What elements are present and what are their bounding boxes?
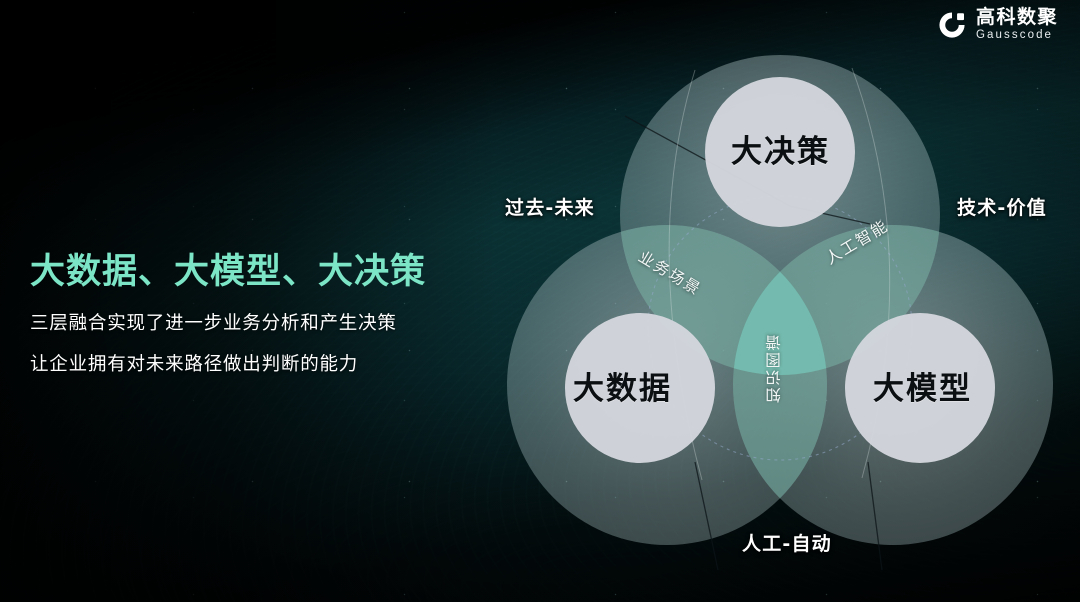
venn-axis-label-manual-auto: 人工-自动 bbox=[742, 529, 832, 556]
slide-canvas: 高科数聚 Gausscode 大数据、大模型、大决策 三层融合实现了进一步业务分… bbox=[0, 0, 1080, 602]
subtitle-line-2: 让企业拥有对未来路径做出判断的能力 bbox=[30, 355, 500, 375]
subtitle-line-1: 三层融合实现了进一步业务分析和产生决策 bbox=[30, 314, 500, 334]
brand-name-cn: 高科数聚 bbox=[976, 8, 1058, 27]
venn-core-label-model: 大模型 bbox=[873, 363, 972, 408]
gausscode-circle-mark-icon bbox=[937, 10, 967, 40]
page-title: 大数据、大模型、大决策 bbox=[30, 252, 500, 292]
copy-block: 大数据、大模型、大决策 三层融合实现了进一步业务分析和产生决策 让企业拥有对未来… bbox=[30, 252, 500, 395]
venn-axis-label-tech-value: 技术-价值 bbox=[957, 193, 1047, 220]
venn-overlap-label-knowledge-graph: 知识图谱 bbox=[763, 333, 785, 403]
brand-name-en: Gausscode bbox=[976, 30, 1058, 42]
venn-diagram bbox=[490, 10, 1070, 600]
brand-logo-text: 高科数聚 Gausscode bbox=[976, 8, 1058, 42]
venn-core-label-decision: 大决策 bbox=[731, 126, 830, 171]
venn-core-label-bigdata: 大数据 bbox=[573, 363, 672, 408]
brand-logo: 高科数聚 Gausscode bbox=[937, 8, 1058, 42]
venn-axis-label-past-future: 过去-未来 bbox=[505, 193, 595, 220]
